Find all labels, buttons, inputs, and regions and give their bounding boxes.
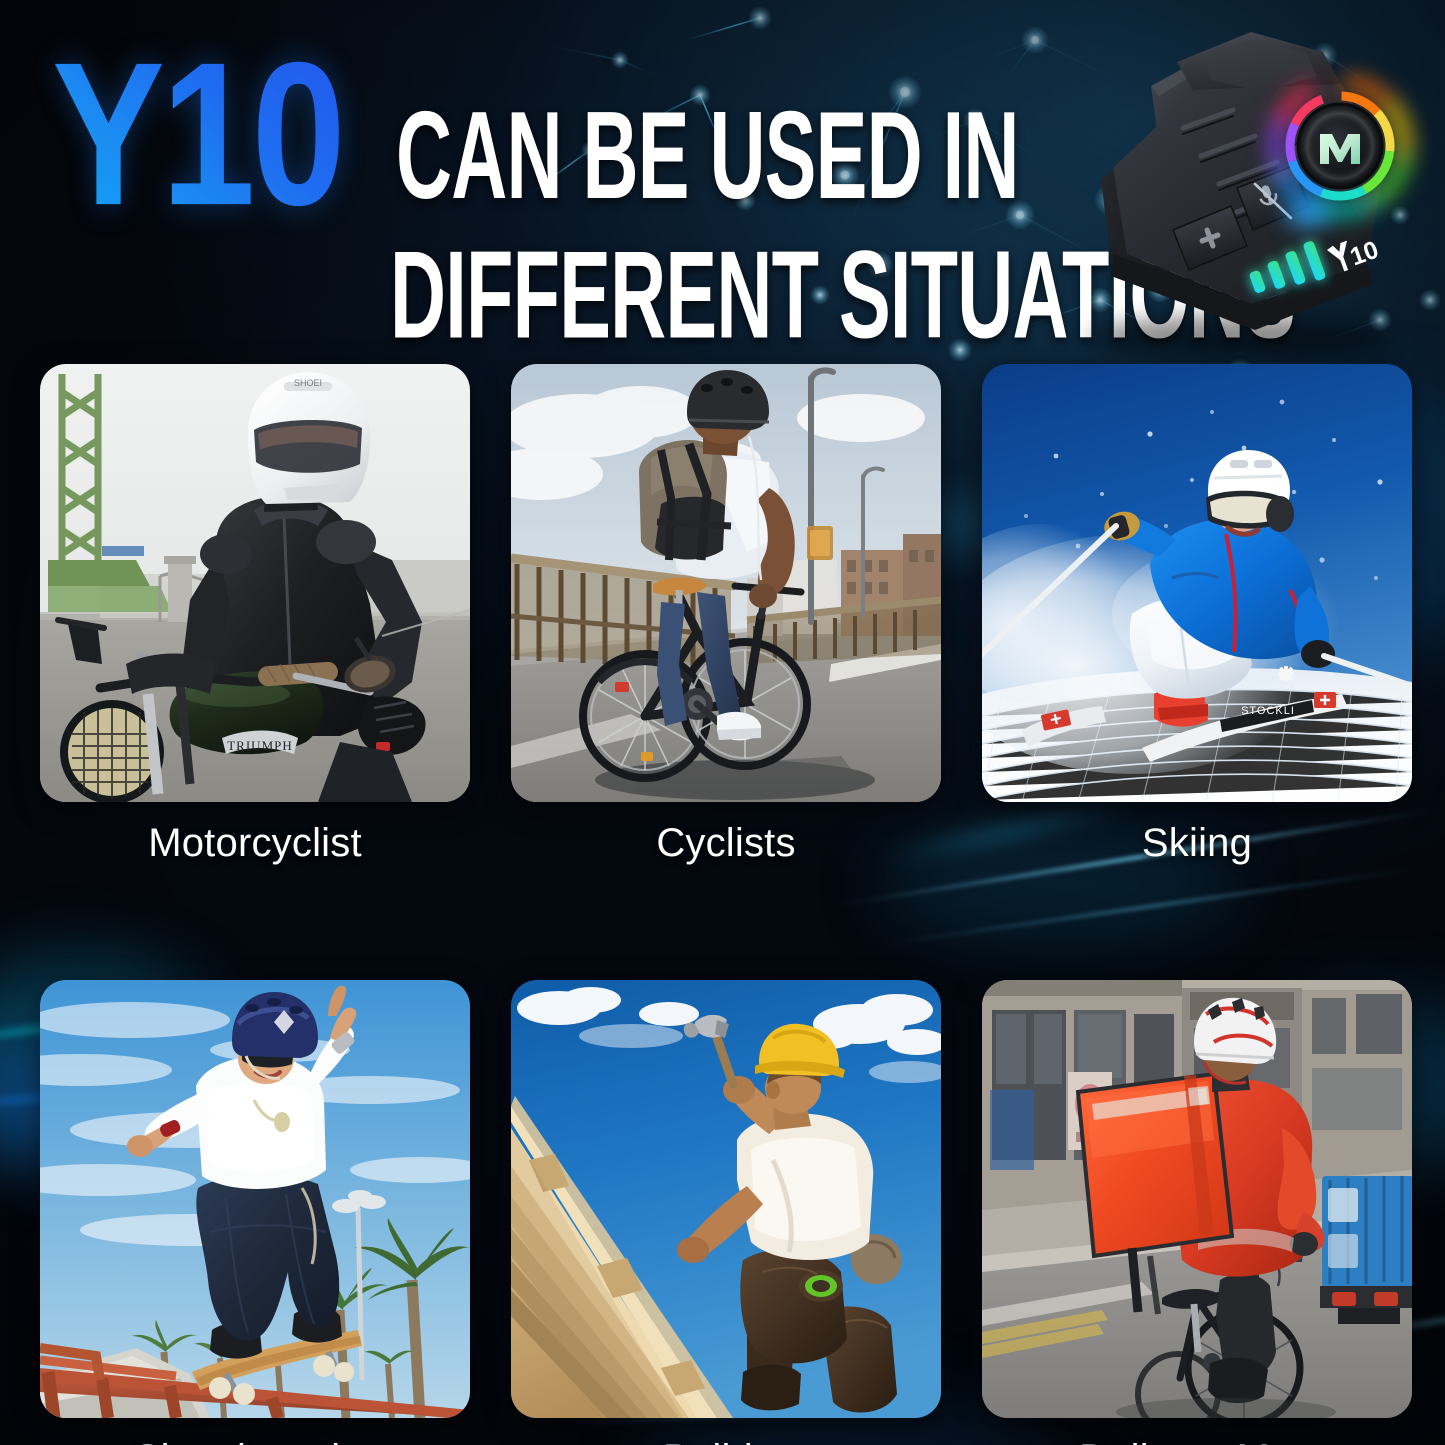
caption-skiing: Skiing xyxy=(982,820,1412,866)
delivery-bag xyxy=(1078,1074,1232,1256)
use-case-grid: SHOEI TRIUMPH xyxy=(40,364,1412,1445)
use-case-card-skateboarder[interactable]: Skateboarder xyxy=(40,980,470,1445)
delivery-truck xyxy=(1320,1176,1412,1324)
photo-cyclists xyxy=(511,364,941,802)
headline-block: Y10 CAN BE USED IN DIFFERENT SITUATIONS xyxy=(52,62,1142,324)
photo-skiing: STOCKLI xyxy=(982,364,1412,802)
product-banner: Y10 CAN BE USED IN DIFFERENT SITUATIONS xyxy=(0,0,1445,1445)
use-case-card-delivery-man[interactable]: Delivery Man xyxy=(982,980,1412,1445)
caption-skateboarder: Skateboarder xyxy=(40,1436,470,1445)
use-case-card-builder[interactable]: Builder xyxy=(511,980,941,1445)
caption-delivery-man: Delivery Man xyxy=(982,1436,1412,1445)
photo-delivery-man xyxy=(982,980,1412,1418)
caption-motorcyclist: Motorcyclist xyxy=(40,820,470,866)
use-case-card-skiing[interactable]: STOCKLI xyxy=(982,364,1412,866)
svg-text:STOCKLI: STOCKLI xyxy=(1241,705,1295,717)
photo-skateboarder xyxy=(40,980,470,1418)
caption-cyclists: Cyclists xyxy=(511,820,941,866)
photo-builder xyxy=(511,980,941,1418)
brand-name-y10: Y10 xyxy=(52,47,348,222)
caption-builder: Builder xyxy=(511,1436,941,1445)
use-case-card-cyclists[interactable]: Cyclists xyxy=(511,364,941,866)
product-device-image: 10 xyxy=(1055,18,1445,363)
photo-motorcyclist: SHOEI TRIUMPH xyxy=(40,364,470,802)
use-case-card-motorcyclist[interactable]: SHOEI TRIUMPH xyxy=(40,364,470,866)
headline-line-2: DIFFERENT SITUATIONS xyxy=(390,244,992,346)
headline-line-1: CAN BE USED IN xyxy=(396,105,1019,222)
